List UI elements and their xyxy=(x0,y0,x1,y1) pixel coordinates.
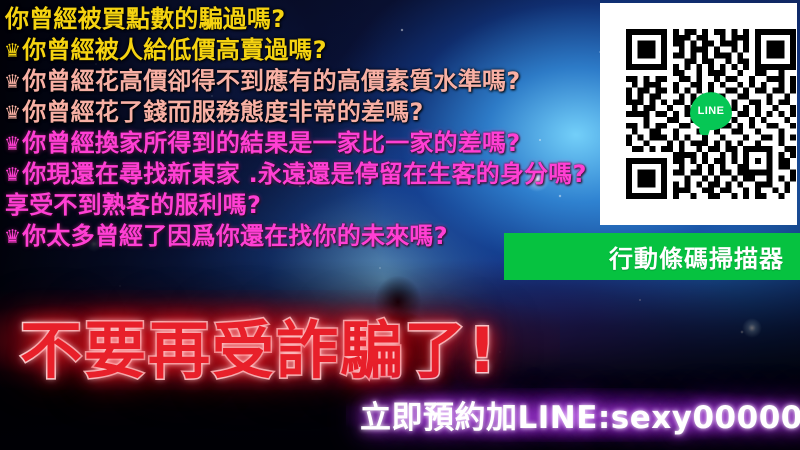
cta-area: 立即預約加LINE:sexy000004 xyxy=(360,392,800,438)
list-item: ♛ 你現還在尋找新東家 .永遠還是停留在生客的身分嗎? xyxy=(4,159,600,190)
crown-icon: ♛ xyxy=(4,104,21,123)
crown-icon: ♛ xyxy=(4,228,21,247)
crown-icon: ♛ xyxy=(4,42,21,61)
list-item: 你曾經被買點數的騙過嗎? xyxy=(4,4,600,35)
line-bubble-shape: LINE xyxy=(690,92,732,130)
qr-code-holder[interactable]: LINE xyxy=(626,29,796,199)
list-item-label: 你曾經被人給低價高賣過嗎? xyxy=(22,35,327,66)
question-list: 你曾經被買點數的騙過嗎? ♛ 你曾經被人給低價高賣過嗎? ♛ 你曾經花高價卻得不… xyxy=(0,0,600,252)
line-logo-icon: LINE xyxy=(690,92,732,134)
list-item: 享受不到熟客的服利嗎? xyxy=(4,190,600,221)
crown-icon: ♛ xyxy=(4,73,21,92)
list-item-label: 你曾經花了錢而服務態度非常的差嗎? xyxy=(22,97,423,128)
advertisement-banner: 你曾經被買點數的騙過嗎? ♛ 你曾經被人給低價高賣過嗎? ♛ 你曾經花高價卻得不… xyxy=(0,0,800,450)
list-item-label: 你曾經被買點數的騙過嗎? xyxy=(5,4,285,35)
barcode-scanner-button[interactable]: 行動條碼掃描器 xyxy=(504,233,800,280)
list-item-label: 你現還在尋找新東家 .永遠還是停留在生客的身分嗎? xyxy=(22,159,586,190)
page-title: 不要再受詐騙了! xyxy=(20,300,498,390)
list-item-label: 你太多曾經了因爲你還在找你的未來嗎? xyxy=(22,221,448,252)
list-item-label: 享受不到熟客的服利嗎? xyxy=(5,190,261,221)
list-item: ♛ 你曾經花高價卻得不到應有的高價素質水準嗎? xyxy=(4,66,600,97)
cta-line-id-text: 立即預約加LINE:sexy000004 xyxy=(360,392,800,437)
list-item: ♛ 你曾經花了錢而服務態度非常的差嗎? xyxy=(4,97,600,128)
list-item-label: 你曾經花高價卻得不到應有的高價素質水準嗎? xyxy=(22,66,520,97)
qr-code-card: LINE xyxy=(600,3,797,225)
headline-area: 不要再受詐騙了! xyxy=(0,296,520,382)
list-item-label: 你曾經換家所得到的結果是一家比一家的差嗎? xyxy=(22,128,520,159)
list-item: ♛ 你曾經被人給低價高賣過嗎? xyxy=(4,35,600,66)
barcode-scanner-button-label: 行動條碼掃描器 xyxy=(609,239,784,274)
crown-icon: ♛ xyxy=(4,135,21,154)
line-logo-label: LINE xyxy=(698,105,725,117)
list-item: ♛ 你曾經換家所得到的結果是一家比一家的差嗎? xyxy=(4,128,600,159)
crown-icon: ♛ xyxy=(4,166,21,185)
